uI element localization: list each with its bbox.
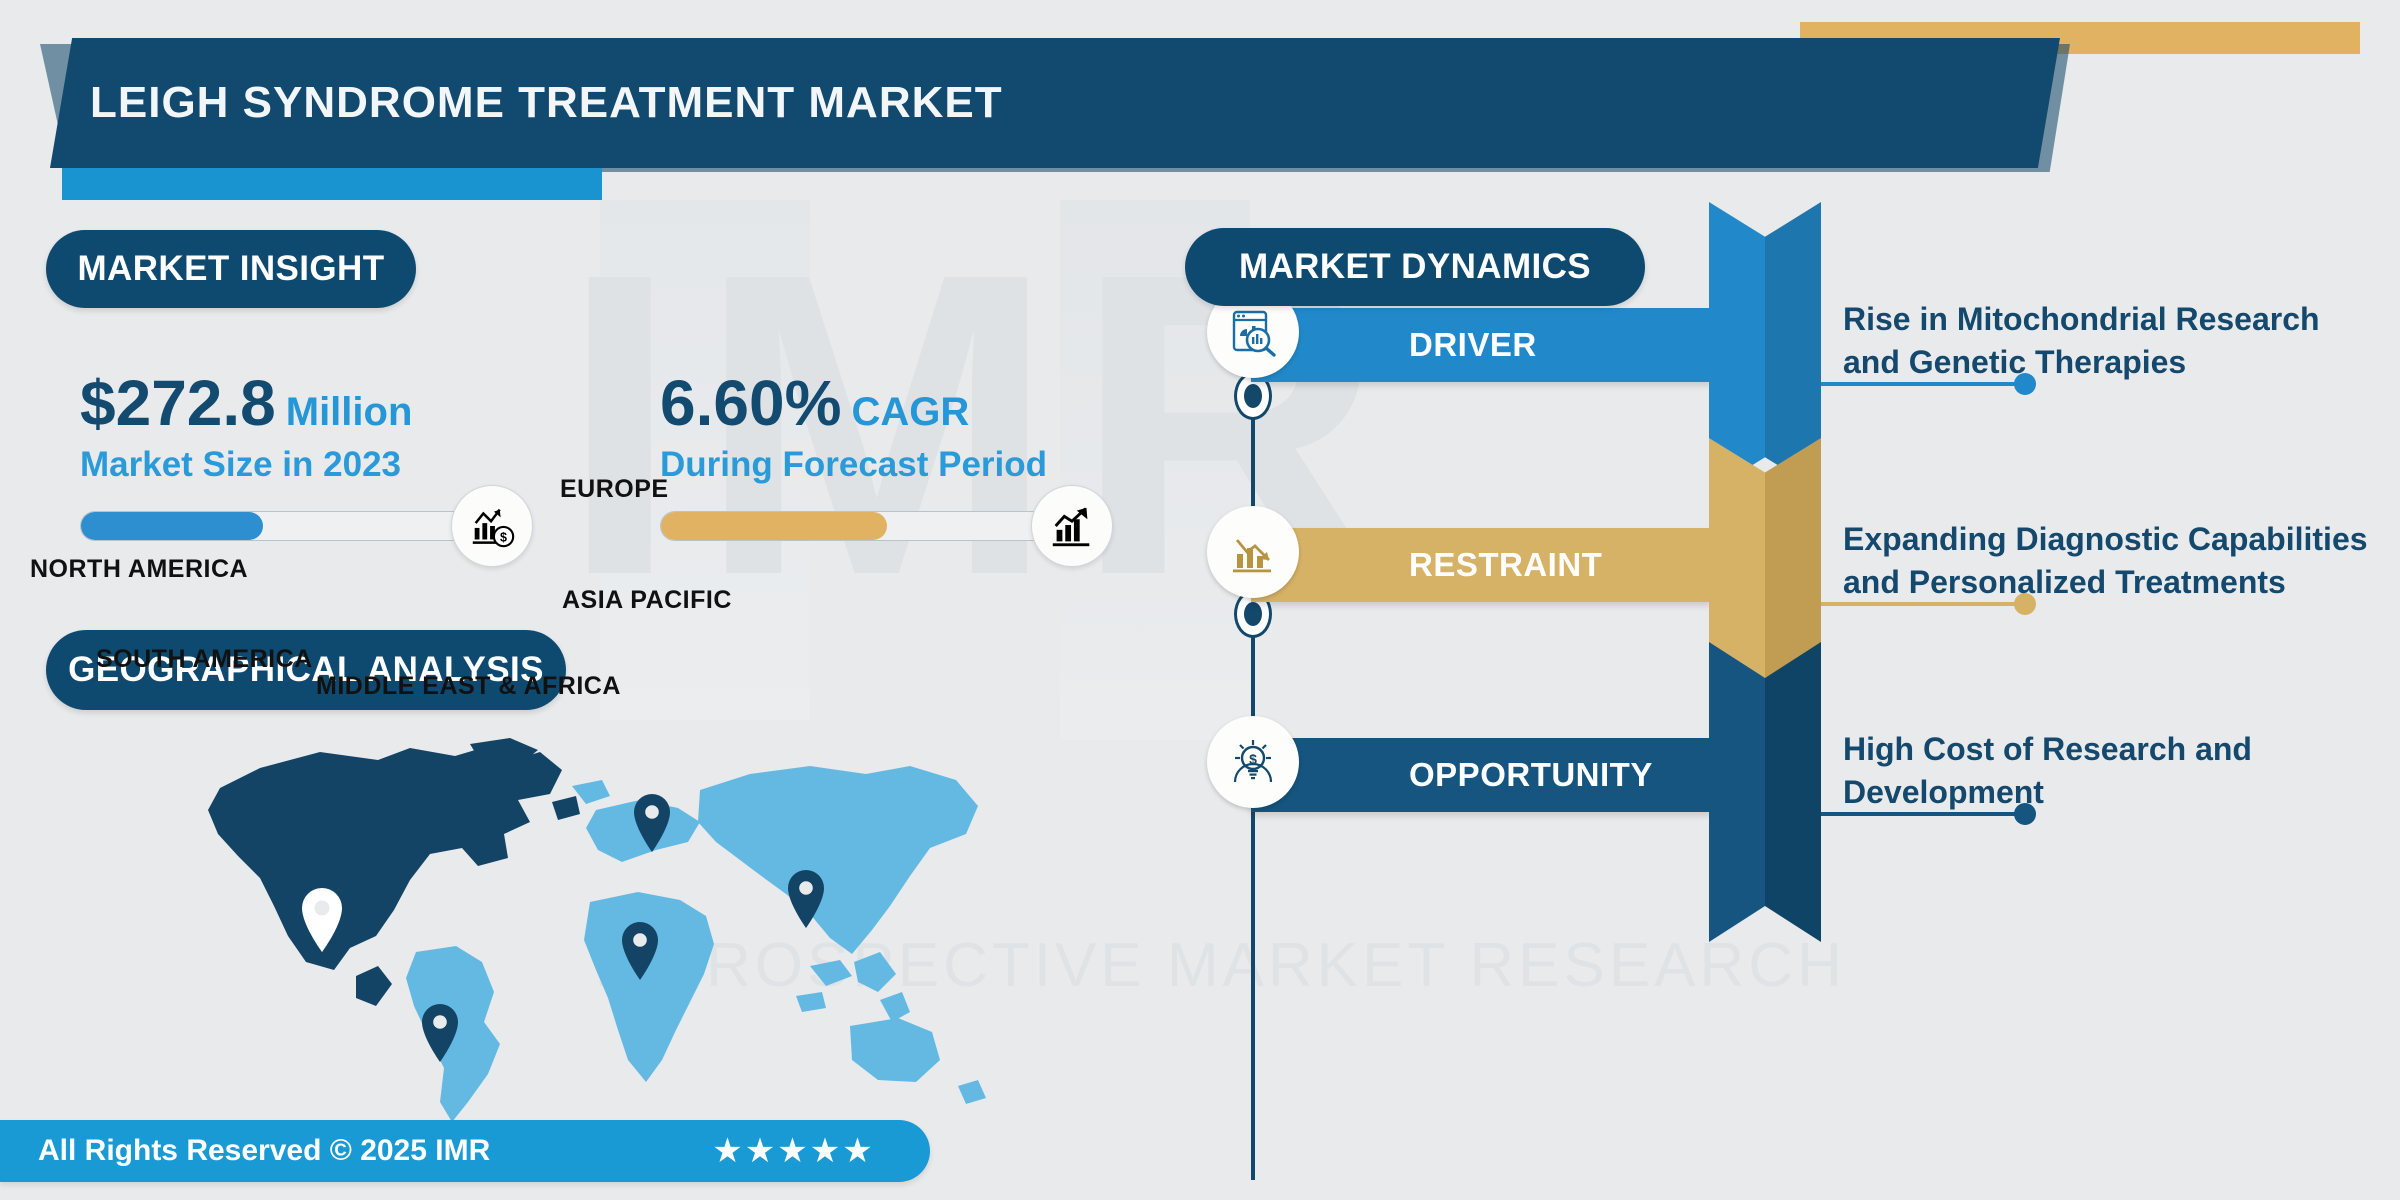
lightbulb-dollar-icon: $: [1207, 716, 1299, 808]
growth-chart-arrow-icon: [1031, 485, 1113, 567]
opportunity-ribbon: [1709, 642, 1821, 942]
cagr-value: 6.60%: [660, 367, 841, 439]
restraint-description: Expanding Diagnostic Capabilities and Pe…: [1843, 518, 2383, 603]
header-blue-underbar: [62, 164, 602, 200]
metric-cagr: 6.60%CAGR During Forecast Period: [660, 370, 1180, 541]
declining-bar-chart-icon: [1207, 506, 1299, 598]
driver-description: Rise in Mitochondrial Research and Genet…: [1843, 298, 2383, 383]
market-size-progress-bar: $: [80, 511, 482, 541]
map-label-middle-east-africa: MIDDLE EAST & AFRICA: [316, 672, 621, 701]
market-size-unit: Million: [286, 390, 413, 434]
opportunity-bar[interactable]: OPPORTUNITY: [1251, 738, 1711, 812]
world-map: [110, 730, 1130, 1130]
cagr-unit: CAGR: [851, 390, 969, 434]
market-size-caption: Market Size in 2023: [80, 445, 600, 485]
opportunity-label: OPPORTUNITY: [1251, 756, 1653, 794]
chip-market-insight: MARKET INSIGHT: [46, 230, 416, 308]
map-label-south-america: SOUTH AMERICA: [96, 645, 313, 674]
page-title: LEIGH SYNDROME TREATMENT MARKET: [50, 78, 1003, 128]
map-label-north-america: NORTH AMERICA: [30, 555, 248, 584]
metric-market-size: $272.8Million Market Size in 2023 $: [80, 370, 600, 541]
copyright-text: All Rights Reserved © 2025 IMR: [0, 1134, 490, 1168]
map-label-asia-pacific: ASIA PACIFIC: [562, 586, 732, 615]
svg-text:$: $: [500, 531, 507, 545]
header-banner: LEIGH SYNDROME TREATMENT MARKET: [50, 38, 2060, 168]
map-label-europe: EUROPE: [560, 475, 669, 504]
cagr-value-row: 6.60%CAGR: [660, 370, 1180, 437]
dynamics-row-restraint: RESTRAINT Expanding Diagnostic Capabilit…: [1185, 500, 2400, 630]
chip-market-dynamics: MARKET DYNAMICS: [1185, 228, 1645, 306]
dynamics-row-opportunity: OPPORTUNITY $: [1185, 710, 2400, 840]
cagr-caption: During Forecast Period: [660, 445, 1180, 485]
market-dynamics-panel: DRIVER Rise: [1185, 300, 2400, 1180]
driver-bar[interactable]: DRIVER: [1251, 308, 1711, 382]
footer-bar: All Rights Reserved © 2025 IMR ★★★★★: [0, 1120, 930, 1182]
opportunity-description: High Cost of Research and Development: [1843, 728, 2383, 813]
market-size-progress-fill: [81, 512, 263, 540]
restraint-bar[interactable]: RESTRAINT: [1251, 528, 1711, 602]
infographic-canvas: IMR INTROSPECTIVE MARKET RESEARCH LEIGH …: [0, 0, 2400, 1200]
rating-stars: ★★★★★: [712, 1131, 874, 1171]
restraint-label: RESTRAINT: [1251, 546, 1602, 584]
cagr-progress-bar: [660, 511, 1062, 541]
bar-chart-dollar-icon: $: [451, 485, 533, 567]
market-size-value: $272.8: [80, 367, 276, 439]
cagr-progress-fill: [661, 512, 887, 540]
metric-value-row: $272.8Million: [80, 370, 600, 437]
